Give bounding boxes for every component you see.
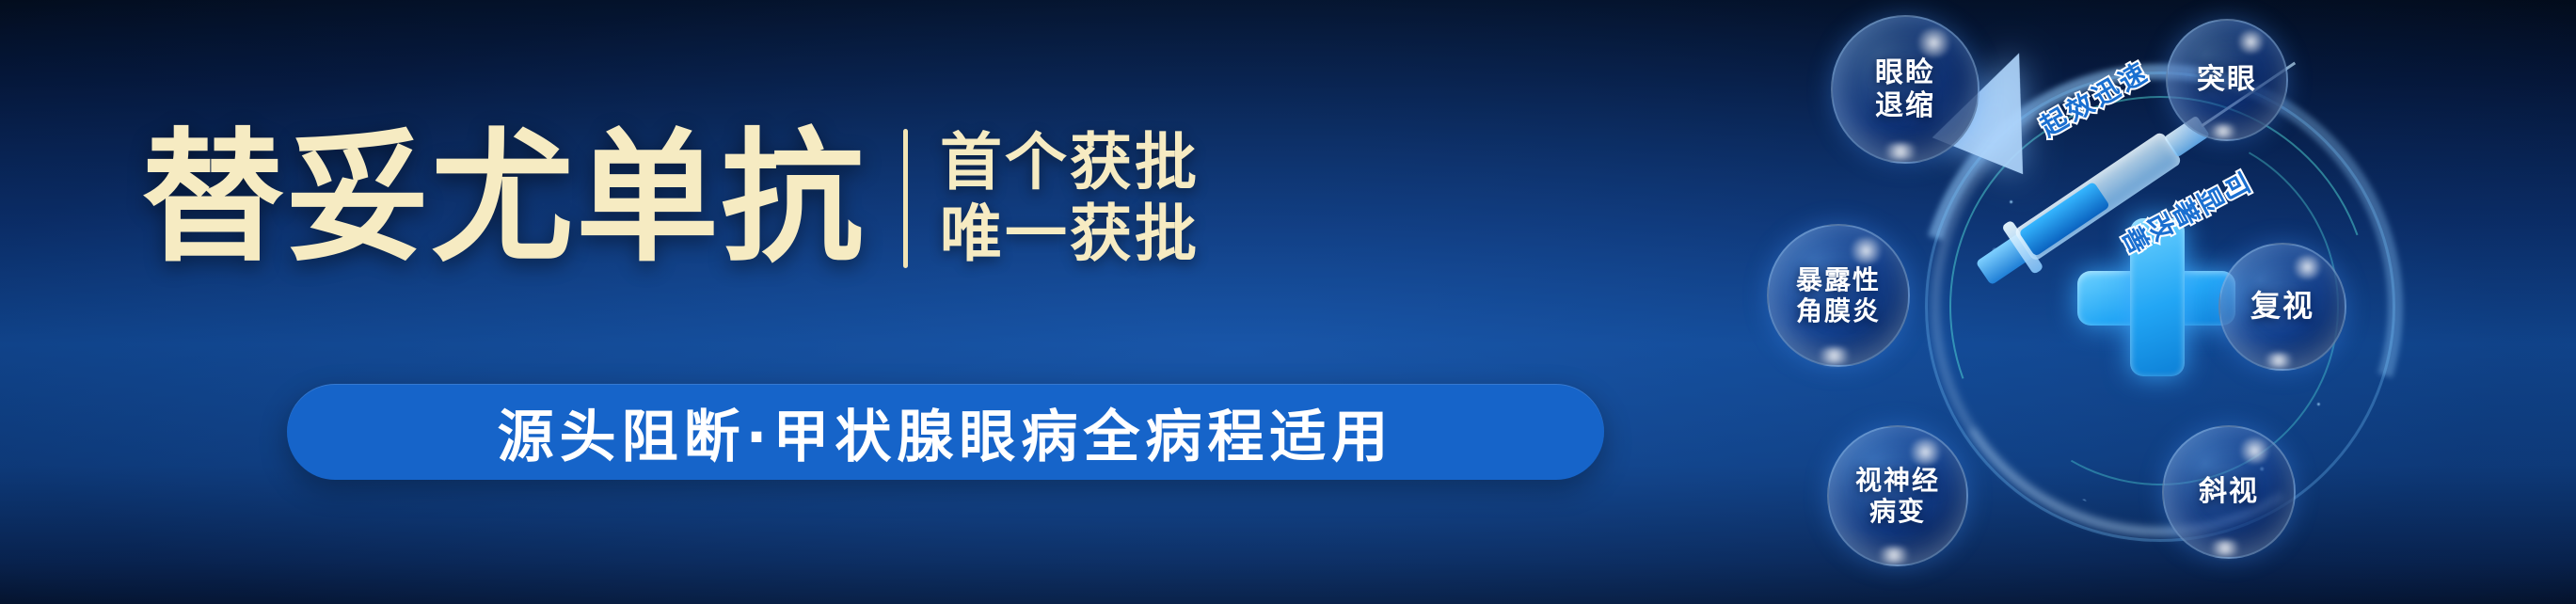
claims-group: 首个获批 唯一获批 xyxy=(940,130,1200,267)
illustration: 起效迅速 可显著改善 眼睑退缩 突眼 暴露性角膜炎 复视 视神经病变 斜视 xyxy=(1741,0,2576,604)
bubble-proptosis-label: 突眼 xyxy=(2197,63,2257,96)
subtitle-pill-label: 源头阻断·甲状腺眼病全病程适用 xyxy=(498,391,1394,473)
bubble-optic-neuropathy[interactable]: 视神经病变 xyxy=(1827,425,1968,566)
headline-row: 替妥尤单抗 首个获批 唯一获批 xyxy=(141,127,1200,270)
claim-first-approved: 首个获批 xyxy=(940,130,1200,196)
bubble-strabismus[interactable]: 斜视 xyxy=(2162,425,2296,559)
bubble-eyelid-retraction-label: 眼睑退缩 xyxy=(1875,56,1935,123)
promo-banner: 替妥尤单抗 首个获批 唯一获批 源头阻断·甲状腺眼病全病程适用 xyxy=(0,0,2576,604)
bubble-proptosis[interactable]: 突眼 xyxy=(2166,19,2288,141)
bubble-exposure-keratitis[interactable]: 暴露性角膜炎 xyxy=(1767,224,1910,367)
bubble-strabismus-label: 斜视 xyxy=(2199,475,2259,508)
subtitle-pill[interactable]: 源头阻断·甲状腺眼病全病程适用 xyxy=(287,384,1604,480)
headline-block: 替妥尤单抗 首个获批 唯一获批 源头阻断·甲状腺眼病全病程适用 xyxy=(0,0,1656,604)
bubble-exposure-keratitis-label: 暴露性角膜炎 xyxy=(1796,264,1881,326)
bubble-eyelid-retraction[interactable]: 眼睑退缩 xyxy=(1831,15,1980,164)
bubble-optic-neuropathy-label: 视神经病变 xyxy=(1855,465,1940,527)
vertical-divider xyxy=(903,129,908,268)
claim-only-approved: 唯一获批 xyxy=(940,201,1200,267)
bubble-diplopia-label: 复视 xyxy=(2250,289,2314,325)
brand-name: 替妥尤单抗 xyxy=(141,127,866,270)
bubble-diplopia[interactable]: 复视 xyxy=(2218,243,2346,371)
